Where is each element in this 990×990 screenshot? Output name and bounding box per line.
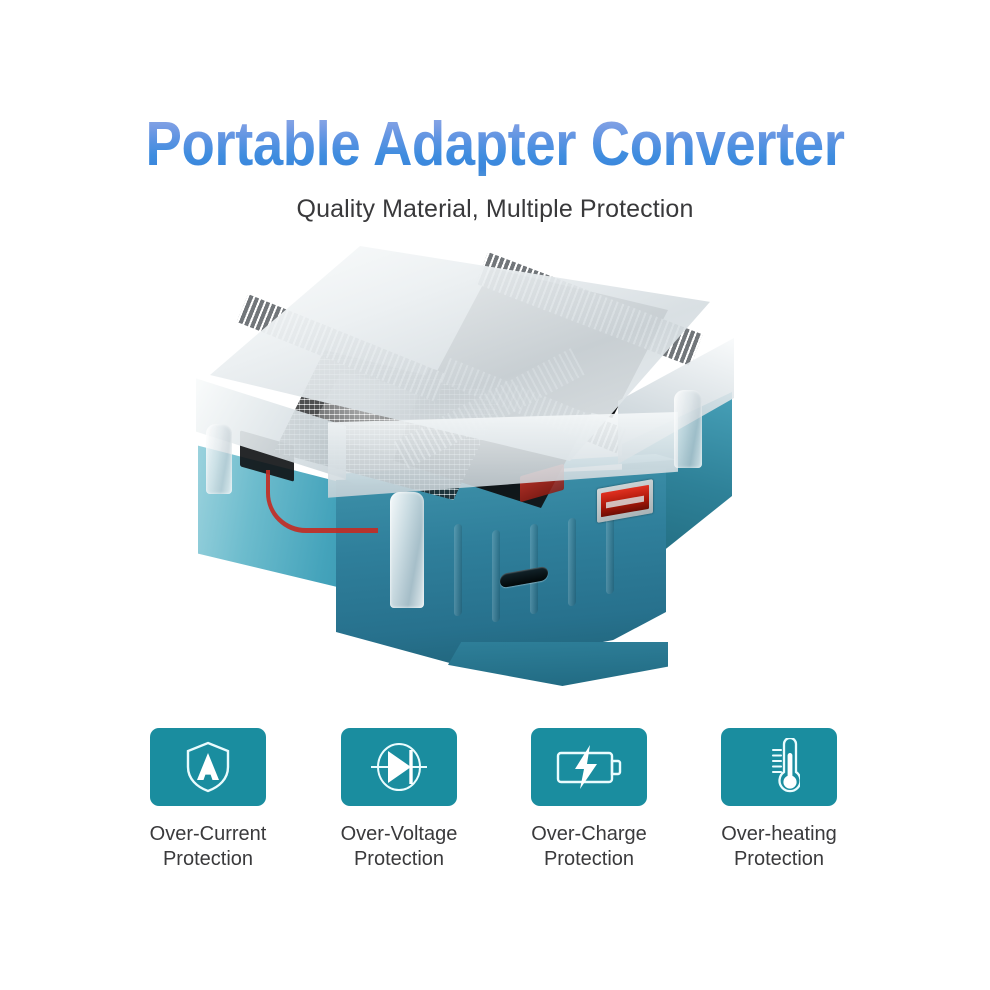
feature-label: Over-heating Protection [684, 822, 874, 872]
clear-guide-post [390, 492, 424, 608]
page-title: Portable Adapter Converter [59, 114, 930, 176]
feature-label: Over-Charge Protection [494, 822, 684, 872]
product-clear-housing [188, 242, 733, 512]
feature-over-heating-protection: Over-heating Protection [684, 728, 874, 872]
feature-over-voltage-protection: Over-Voltage Protection [304, 728, 494, 872]
product-image-stage [0, 236, 990, 706]
clear-guide-post [674, 390, 702, 468]
product-ridge [454, 523, 462, 616]
page-subtitle: Quality Material, Multiple Protection [0, 194, 990, 224]
feature-label: Over-Voltage Protection [304, 822, 494, 872]
header-banner: Portable Adapter Converter Quality Mater… [0, 0, 990, 240]
product-ridge [568, 517, 576, 606]
shield-ampere-icon [183, 740, 233, 794]
clear-guide-post [206, 424, 232, 494]
product-ridge [606, 509, 614, 594]
feature-icon-tile [721, 728, 837, 806]
feature-label: Over-Current Protection [113, 822, 303, 872]
product-ridge [492, 529, 500, 622]
thermometer-icon [758, 738, 800, 796]
feature-icon-tile [531, 728, 647, 806]
protection-features-row: Over-Current Protection Over-Voltage Pro… [0, 728, 990, 878]
feature-icon-tile [150, 728, 266, 806]
product-photo-adapter-converter [186, 242, 731, 697]
battery-bolt-icon [555, 744, 623, 790]
feature-over-current-protection: Over-Current Protection [113, 728, 303, 872]
diode-circle-icon [368, 740, 430, 794]
product-body-foot [448, 642, 668, 686]
feature-icon-tile [341, 728, 457, 806]
feature-over-charge-protection: Over-Charge Protection [494, 728, 684, 872]
